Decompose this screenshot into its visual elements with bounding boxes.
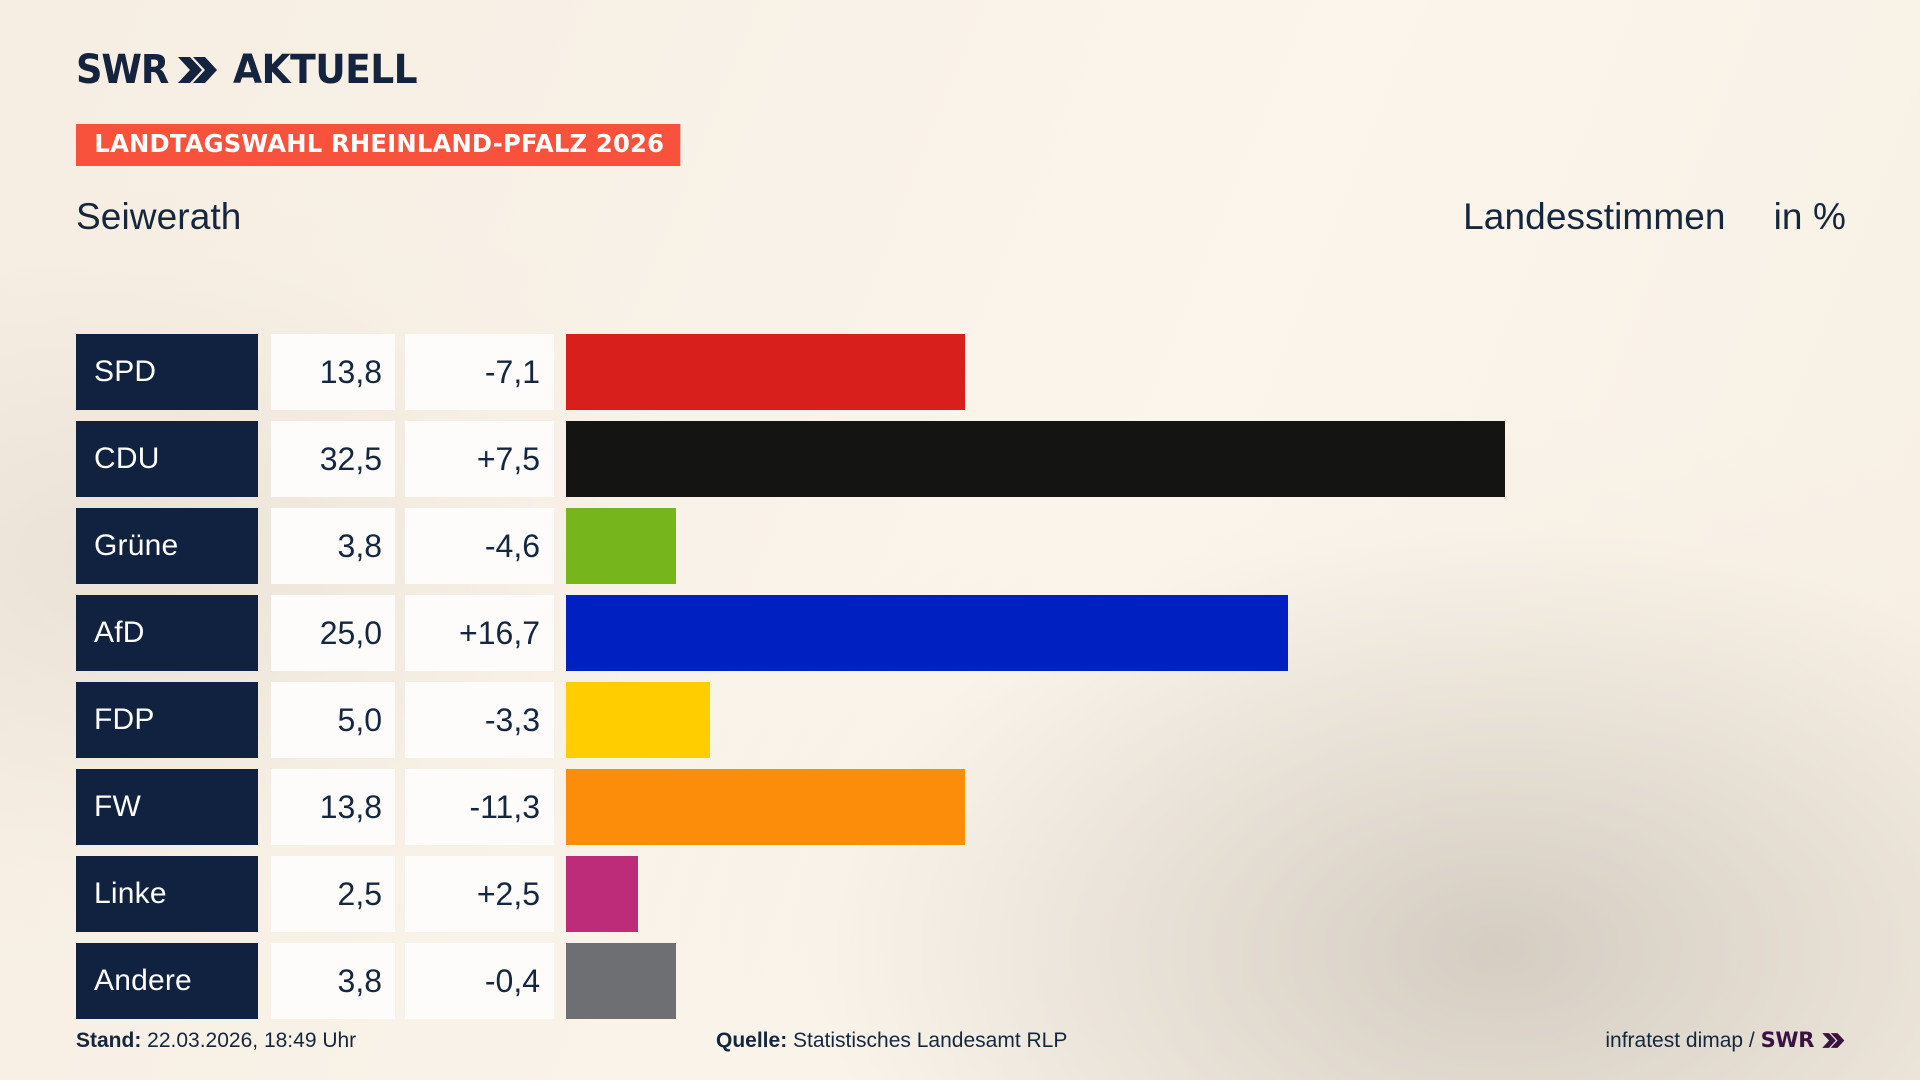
table-row: CDU32,5+7,5 bbox=[76, 418, 1866, 505]
region-name: Seiwerath bbox=[76, 196, 241, 238]
double-chevron-right-icon bbox=[1814, 1029, 1846, 1052]
table-row: SPD13,8-7,1 bbox=[76, 331, 1866, 418]
party-name-cell: FDP bbox=[76, 682, 258, 758]
bar-track bbox=[566, 421, 1866, 497]
swr-aktuell-logo: SWR AKTUELL bbox=[76, 44, 1846, 96]
party-bar bbox=[566, 334, 965, 410]
credit-swr-wordmark: SWR bbox=[1761, 1028, 1815, 1052]
party-share-cell: 3,8 bbox=[271, 943, 395, 1019]
table-row: Grüne3,8-4,6 bbox=[76, 505, 1866, 592]
party-change-cell: -11,3 bbox=[405, 769, 554, 845]
header: SWR AKTUELL LANDTAGSWAHL RHEINLAND-PFALZ… bbox=[76, 44, 1846, 238]
party-bar bbox=[566, 421, 1505, 497]
bar-track bbox=[566, 682, 1866, 758]
quelle-info: Quelle: Statistisches Landesamt RLP bbox=[716, 1029, 1605, 1053]
party-name-cell: Linke bbox=[76, 856, 258, 932]
subheader: Seiwerath Landesstimmen in % bbox=[76, 196, 1846, 238]
party-name-cell: CDU bbox=[76, 421, 258, 497]
results-bar-chart: SPD13,8-7,1CDU32,5+7,5Grüne3,8-4,6AfD25,… bbox=[76, 331, 1866, 1027]
party-share-cell: 32,5 bbox=[271, 421, 395, 497]
election-banner: LANDTAGSWAHL RHEINLAND-PFALZ 2026 bbox=[76, 124, 681, 166]
stand-value: 22.03.2026, 18:49 Uhr bbox=[147, 1029, 356, 1052]
quelle-value: Statistisches Landesamt RLP bbox=[793, 1029, 1067, 1052]
party-change-cell: -4,6 bbox=[405, 508, 554, 584]
bar-track bbox=[566, 508, 1866, 584]
credit-text: infratest dimap / bbox=[1605, 1029, 1760, 1052]
table-row: Linke2,5+2,5 bbox=[76, 853, 1866, 940]
swr-wordmark: SWR bbox=[76, 50, 168, 90]
party-change-cell: +7,5 bbox=[405, 421, 554, 497]
bar-track bbox=[566, 334, 1866, 410]
party-share-cell: 13,8 bbox=[271, 769, 395, 845]
election-result-graphic: SWR AKTUELL LANDTAGSWAHL RHEINLAND-PFALZ… bbox=[0, 0, 1920, 1080]
table-row: AfD25,0+16,7 bbox=[76, 592, 1866, 679]
party-change-cell: -7,1 bbox=[405, 334, 554, 410]
bar-track bbox=[566, 943, 1866, 1019]
stand-label: Stand: bbox=[76, 1029, 141, 1052]
table-row: FDP5,0-3,3 bbox=[76, 679, 1866, 766]
party-name-cell: SPD bbox=[76, 334, 258, 410]
party-name-cell: AfD bbox=[76, 595, 258, 671]
bar-track bbox=[566, 769, 1866, 845]
double-chevron-right-icon bbox=[177, 55, 217, 85]
bar-track bbox=[566, 595, 1866, 671]
party-share-cell: 3,8 bbox=[271, 508, 395, 584]
party-name-cell: Grüne bbox=[76, 508, 258, 584]
party-name-cell: FW bbox=[76, 769, 258, 845]
footer: Stand: 22.03.2026, 18:49 Uhr Quelle: Sta… bbox=[76, 1028, 1846, 1053]
party-share-cell: 25,0 bbox=[271, 595, 395, 671]
table-row: Andere3,8-0,4 bbox=[76, 940, 1866, 1027]
vote-type-label: Landesstimmen bbox=[1463, 196, 1726, 238]
party-share-cell: 2,5 bbox=[271, 856, 395, 932]
table-row: FW13,8-11,3 bbox=[76, 766, 1866, 853]
party-share-cell: 5,0 bbox=[271, 682, 395, 758]
party-bar bbox=[566, 943, 676, 1019]
party-bar bbox=[566, 682, 710, 758]
aktuell-wordmark: AKTUELL bbox=[233, 50, 417, 90]
party-name-cell: Andere bbox=[76, 943, 258, 1019]
party-share-cell: 13,8 bbox=[271, 334, 395, 410]
party-bar bbox=[566, 595, 1288, 671]
party-change-cell: +16,7 bbox=[405, 595, 554, 671]
bar-track bbox=[566, 856, 1866, 932]
quelle-label: Quelle: bbox=[716, 1029, 787, 1052]
unit-label: in % bbox=[1774, 196, 1846, 238]
party-change-cell: -0,4 bbox=[405, 943, 554, 1019]
party-change-cell: +2,5 bbox=[405, 856, 554, 932]
party-change-cell: -3,3 bbox=[405, 682, 554, 758]
stand-info: Stand: 22.03.2026, 18:49 Uhr bbox=[76, 1029, 716, 1053]
party-bar bbox=[566, 856, 638, 932]
party-bar bbox=[566, 769, 965, 845]
credit-info: infratest dimap / SWR bbox=[1605, 1028, 1846, 1053]
party-bar bbox=[566, 508, 676, 584]
